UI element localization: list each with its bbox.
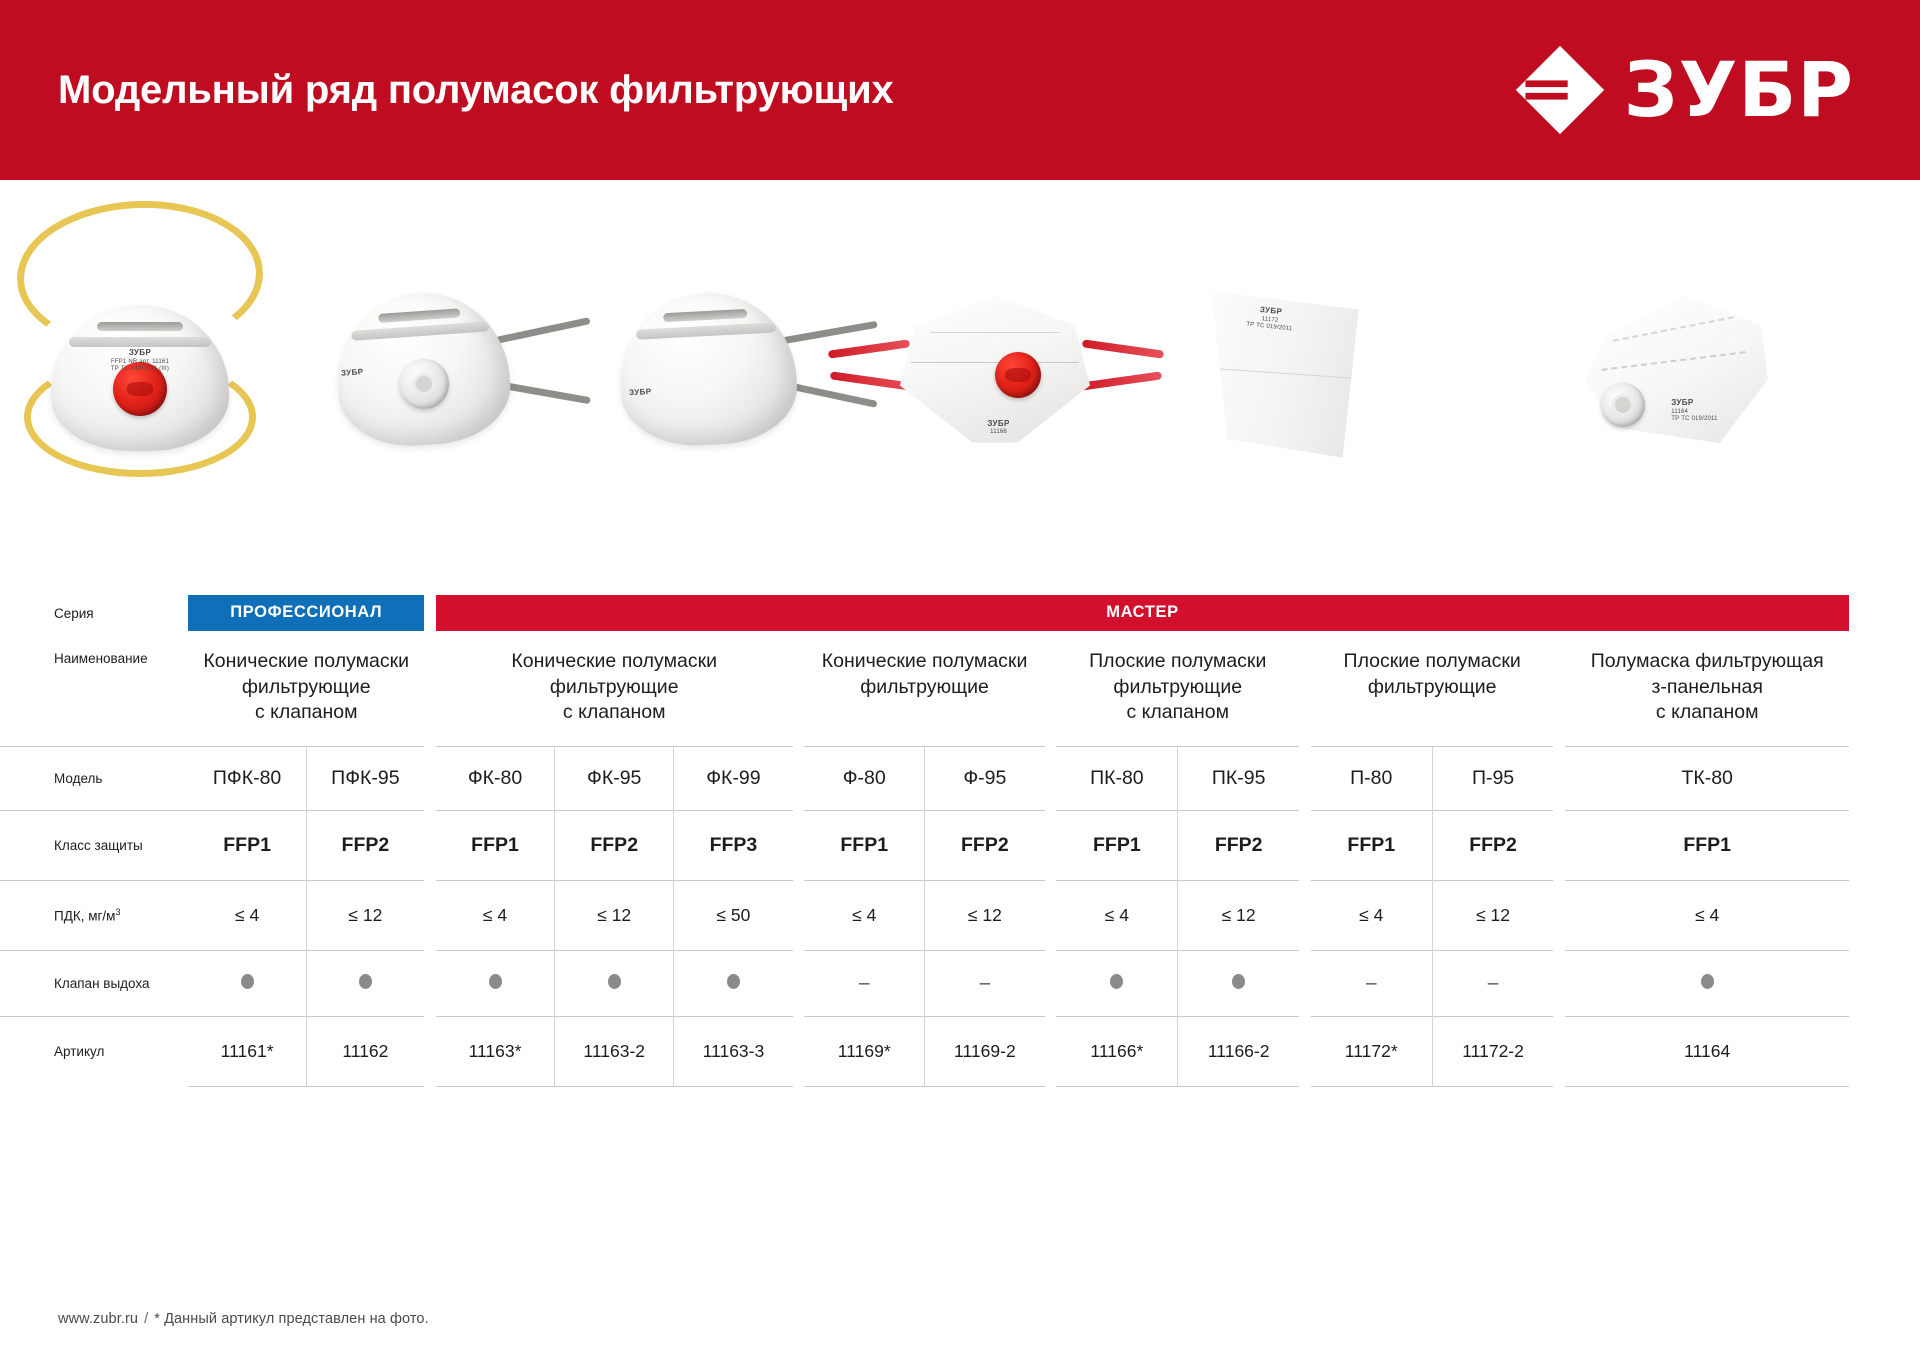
valve-present-dot-icon bbox=[727, 974, 740, 989]
cell-class-11: FFP1 bbox=[1565, 811, 1849, 881]
series-badge-professional: ПРОФЕССИОНАЛ bbox=[188, 595, 424, 631]
name-line-3: с клапаном bbox=[1070, 700, 1285, 726]
page-header: Модельный ряд полумасок фильтрующих ЗУБР bbox=[0, 0, 1920, 180]
valve-absent-dash-icon: – bbox=[980, 973, 991, 994]
cell-model-8: ПК-95 bbox=[1178, 747, 1299, 811]
row-pdk: ПДК, мг/м3 ≤ 4 ≤ 12 ≤ 4 ≤ 12 ≤ 50 ≤ 4 ≤ … bbox=[0, 881, 1920, 951]
cell-pdk-2: ≤ 4 bbox=[436, 881, 555, 951]
name-group-pk: Плоские полумаски фильтрующие с клапаном bbox=[1056, 631, 1299, 747]
mask-print-line1: 11164 bbox=[1671, 409, 1688, 415]
cell-article-2: 11163* bbox=[436, 1017, 555, 1087]
series-group-master: МАСТЕР bbox=[436, 595, 1849, 631]
mask-printed-label: ЗУБР bbox=[340, 367, 363, 379]
cell-model-1: ПФК-95 bbox=[306, 747, 424, 811]
mask-print-brand: ЗУБР bbox=[1671, 398, 1693, 407]
mask-print-brand: ЗУБР bbox=[340, 367, 363, 378]
mask-printed-label: ЗУБР 11172 ТР ТС 019/2011 bbox=[1245, 304, 1294, 334]
cell-valve-9: – bbox=[1311, 951, 1432, 1017]
cell-article-6: 11169-2 bbox=[925, 1017, 1045, 1087]
cell-valve-5: – bbox=[804, 951, 924, 1017]
cell-valve-11 bbox=[1565, 951, 1849, 1017]
product-photo-pk: ЗУБР 11166 bbox=[850, 180, 1140, 595]
cell-model-6: Ф-95 bbox=[925, 747, 1045, 811]
cell-article-3: 11163-2 bbox=[555, 1017, 674, 1087]
cell-article-11: 11164 bbox=[1565, 1017, 1849, 1087]
row-label-name: Наименование bbox=[0, 631, 188, 747]
cell-valve-8 bbox=[1178, 951, 1299, 1017]
product-photo-p: ЗУБР 11172 ТР ТС 019/2011 bbox=[1140, 180, 1430, 595]
exhalation-valve-red bbox=[995, 352, 1041, 398]
cell-model-11: ТК-80 bbox=[1565, 747, 1849, 811]
mask-print-line1: 11172 bbox=[1261, 316, 1278, 324]
cell-valve-2 bbox=[436, 951, 555, 1017]
cell-article-8: 11166-2 bbox=[1178, 1017, 1299, 1087]
row-exhalation-valve: Клапан выдоха – – – – bbox=[0, 951, 1920, 1017]
cell-class-4: FFP3 bbox=[674, 811, 793, 881]
cell-valve-4 bbox=[674, 951, 793, 1017]
cell-article-1: 11162 bbox=[306, 1017, 424, 1087]
name-line-3 bbox=[818, 700, 1030, 726]
cell-valve-6: – bbox=[925, 951, 1045, 1017]
name-line-3: с клапаном bbox=[1579, 700, 1835, 726]
row-name: Наименование Конические полумаски фильтр… bbox=[0, 631, 1920, 747]
cell-model-0: ПФК-80 bbox=[188, 747, 306, 811]
cone-mask-with-grey-valve: ЗУБР bbox=[337, 293, 509, 445]
cone-mask-no-valve: ЗУБР bbox=[620, 293, 796, 445]
cell-pdk-1: ≤ 12 bbox=[306, 881, 424, 951]
row-model: Модель ПФК-80 ПФК-95 ФК-80 ФК-95 ФК-99 Ф… bbox=[0, 747, 1920, 811]
name-group-p: Плоские полумаски фильтрующие bbox=[1311, 631, 1554, 747]
name-line-3 bbox=[1325, 700, 1540, 726]
cell-article-9: 11172* bbox=[1311, 1017, 1432, 1087]
mask-print-brand: ЗУБР bbox=[987, 419, 1009, 428]
cell-class-9: FFP1 bbox=[1311, 811, 1432, 881]
valve-present-dot-icon bbox=[608, 974, 621, 989]
cell-pdk-7: ≤ 4 bbox=[1056, 881, 1177, 951]
row-article: Артикул 11161* 11162 11163* 11163-2 1116… bbox=[0, 1017, 1920, 1087]
fold-line-lower bbox=[911, 362, 1078, 363]
poster-page: Модельный ряд полумасок фильтрующих ЗУБР bbox=[0, 0, 1920, 1357]
three-panel-body bbox=[1582, 290, 1768, 450]
valve-present-dot-icon bbox=[1232, 974, 1245, 989]
footer-note: * Данный артикул представлен на фото. bbox=[154, 1311, 429, 1327]
cell-model-4: ФК-99 bbox=[674, 747, 793, 811]
product-photo-f: ЗУБР bbox=[565, 180, 850, 595]
nose-clip bbox=[377, 308, 460, 323]
cell-pdk-3: ≤ 12 bbox=[555, 881, 674, 951]
name-line-2: фильтрующие bbox=[450, 675, 779, 701]
name-group-f: Конические полумаски фильтрующие bbox=[804, 631, 1044, 747]
cell-model-9: П-80 bbox=[1311, 747, 1432, 811]
specification-table: Серия ПРОФЕССИОНАЛ МАСТЕР Наименование К… bbox=[0, 595, 1920, 1087]
cell-article-10: 11172-2 bbox=[1432, 1017, 1553, 1087]
cell-model-3: ФК-95 bbox=[555, 747, 674, 811]
cell-pdk-11: ≤ 4 bbox=[1565, 881, 1849, 951]
cell-pdk-10: ≤ 12 bbox=[1432, 881, 1553, 951]
mask-printed-label: ЗУБР 11166 bbox=[987, 419, 1009, 437]
cell-pdk-0: ≤ 4 bbox=[188, 881, 306, 951]
mask-print-brand: ЗУБР bbox=[129, 348, 151, 357]
row-series: Серия ПРОФЕССИОНАЛ МАСТЕР bbox=[0, 595, 1920, 631]
name-group-tk: Полумаска фильтрующая з-панельная с клап… bbox=[1565, 631, 1849, 747]
row-label-model: Модель bbox=[0, 747, 188, 811]
mask-print-brand: ЗУБР bbox=[1259, 305, 1282, 316]
valve-present-dot-icon bbox=[489, 974, 502, 989]
flat-fold-mask-no-valve-folded: ЗУБР 11172 ТР ТС 019/2011 bbox=[1205, 280, 1365, 465]
row-label-series: Серия bbox=[0, 595, 188, 631]
valve-absent-dash-icon: – bbox=[859, 973, 870, 994]
row-label-pdk-text: ПДК, мг/м bbox=[54, 909, 115, 924]
three-panel-mask-with-valve: ЗУБР 11164 ТР ТС 019/2011 bbox=[1582, 290, 1768, 450]
valve-present-dot-icon bbox=[241, 974, 254, 989]
cell-class-10: FFP2 bbox=[1432, 811, 1553, 881]
row-label-pdk: ПДК, мг/м3 bbox=[0, 881, 188, 951]
name-line-2: фильтрующие bbox=[202, 675, 410, 701]
name-line-1: Плоские полумаски bbox=[1070, 649, 1285, 675]
nose-clip bbox=[662, 309, 747, 322]
nose-clip bbox=[97, 322, 182, 331]
cell-article-7: 11166* bbox=[1056, 1017, 1177, 1087]
cell-model-10: П-95 bbox=[1432, 747, 1553, 811]
cone-mask-with-red-valve-yellow-straps: ЗУБР FFP1 NR арт. 11161 ТР ТС 019/2011 (… bbox=[51, 305, 229, 451]
name-line-2: з-панельная bbox=[1579, 675, 1835, 701]
row-label-valve: Клапан выдоха bbox=[0, 951, 188, 1017]
cell-class-3: FFP2 bbox=[555, 811, 674, 881]
product-photo-fk: ЗУБР bbox=[280, 180, 565, 595]
name-line-1: Конические полумаски bbox=[818, 649, 1030, 675]
row-label-pdk-superscript: 3 bbox=[115, 907, 120, 917]
cell-class-7: FFP1 bbox=[1056, 811, 1177, 881]
mask-print-line1: 11166 bbox=[990, 429, 1007, 435]
top-seam bbox=[635, 322, 776, 339]
cell-pdk-8: ≤ 12 bbox=[1178, 881, 1299, 951]
mask-print-line2: ТР ТС 019/2011 (III) bbox=[111, 366, 169, 372]
valve-present-dot-icon bbox=[1110, 974, 1123, 989]
name-group-pfk: Конические полумаски фильтрующие с клапа… bbox=[188, 631, 424, 747]
name-line-3: с клапаном bbox=[202, 700, 410, 726]
name-line-2: фильтрующие bbox=[1325, 675, 1540, 701]
crease-line bbox=[1215, 368, 1356, 379]
page-title: Модельный ряд полумасок фильтрующих bbox=[58, 68, 894, 113]
cell-class-1: FFP2 bbox=[306, 811, 424, 881]
stitch-line-upper bbox=[1613, 316, 1734, 341]
product-photo-pfk: ЗУБР FFP1 NR арт. 11161 ТР ТС 019/2011 (… bbox=[0, 180, 280, 595]
mask-cup-body: ЗУБР bbox=[616, 288, 800, 449]
cell-valve-0 bbox=[188, 951, 306, 1017]
name-line-1: Конические полумаски bbox=[450, 649, 779, 675]
row-bottom-rule bbox=[0, 1087, 1920, 1088]
fold-line-upper bbox=[930, 332, 1059, 333]
cell-pdk-9: ≤ 4 bbox=[1311, 881, 1432, 951]
series-group-professional: ПРОФЕССИОНАЛ bbox=[188, 595, 424, 631]
cell-model-2: ФК-80 bbox=[436, 747, 555, 811]
mask-print-line2: ТР ТС 019/2011 bbox=[1671, 416, 1717, 422]
name-line-2: фильтрующие bbox=[818, 675, 1030, 701]
cell-class-8: FFP2 bbox=[1178, 811, 1299, 881]
footer-separator: / bbox=[138, 1311, 154, 1327]
name-group-fk: Конические полумаски фильтрующие с клапа… bbox=[436, 631, 793, 747]
cell-pdk-5: ≤ 4 bbox=[804, 881, 924, 951]
cell-article-0: 11161* bbox=[188, 1017, 306, 1087]
cell-article-4: 11163-3 bbox=[674, 1017, 793, 1087]
mask-print-line1: FFP1 NR арт. 11161 bbox=[111, 359, 169, 365]
cell-valve-1 bbox=[306, 951, 424, 1017]
stitch-line-lower bbox=[1601, 351, 1745, 371]
footer-website-link[interactable]: www.zubr.ru bbox=[58, 1311, 138, 1327]
name-line-1: Полумаска фильтрующая bbox=[1579, 649, 1835, 675]
product-photo-tk: ЗУБР 11164 ТР ТС 019/2011 bbox=[1430, 180, 1920, 595]
row-protection-class: Класс защиты FFP1 FFP2 FFP1 FFP2 FFP3 FF… bbox=[0, 811, 1920, 881]
cell-article-5: 11169* bbox=[804, 1017, 924, 1087]
cell-pdk-6: ≤ 12 bbox=[925, 881, 1045, 951]
name-line-1: Плоские полумаски bbox=[1325, 649, 1540, 675]
name-line-3: с клапаном bbox=[450, 700, 779, 726]
zubr-diamond-logo-icon bbox=[1512, 42, 1608, 138]
cell-class-5: FFP1 bbox=[804, 811, 924, 881]
cell-valve-3 bbox=[555, 951, 674, 1017]
name-line-1: Конические полумаски bbox=[202, 649, 410, 675]
row-label-protection-class: Класс защиты bbox=[0, 811, 188, 881]
valve-absent-dash-icon: – bbox=[1488, 973, 1499, 994]
cell-pdk-4: ≤ 50 bbox=[674, 881, 793, 951]
valve-present-dot-icon bbox=[1701, 974, 1714, 989]
brand-logo: ЗУБР bbox=[1512, 42, 1854, 138]
valve-absent-dash-icon: – bbox=[1366, 973, 1377, 994]
page-footer: www.zubr.ru/* Данный артикул представлен… bbox=[58, 1311, 429, 1327]
exhalation-valve-grey bbox=[1601, 383, 1645, 427]
mask-print-brand: ЗУБР bbox=[628, 387, 651, 397]
mask-printed-label: ЗУБР 11164 ТР ТС 019/2011 bbox=[1671, 398, 1717, 424]
cell-valve-7 bbox=[1056, 951, 1177, 1017]
cell-model-5: Ф-80 bbox=[804, 747, 924, 811]
product-photo-strip: ЗУБР FFP1 NR арт. 11161 ТР ТС 019/2011 (… bbox=[0, 180, 1920, 595]
mask-cup-body: ЗУБР bbox=[331, 287, 513, 451]
valve-present-dot-icon bbox=[359, 974, 372, 989]
cell-valve-10: – bbox=[1432, 951, 1553, 1017]
brand-wordmark: ЗУБР bbox=[1624, 52, 1854, 128]
exhalation-valve-grey bbox=[397, 357, 450, 410]
flat-fold-mask-with-red-valve-red-straps: ЗУБР 11166 bbox=[900, 293, 1090, 443]
row-label-article: Артикул bbox=[0, 1017, 188, 1087]
cell-model-7: ПК-80 bbox=[1056, 747, 1177, 811]
series-badge-master: МАСТЕР bbox=[436, 595, 1849, 631]
mask-printed-label: ЗУБР bbox=[628, 387, 651, 399]
cell-class-6: FFP2 bbox=[925, 811, 1045, 881]
top-seam bbox=[69, 337, 211, 347]
top-seam bbox=[351, 321, 489, 341]
mask-printed-label: ЗУБР FFP1 NR арт. 11161 ТР ТС 019/2011 (… bbox=[51, 348, 229, 374]
cell-class-2: FFP1 bbox=[436, 811, 555, 881]
cell-class-0: FFP1 bbox=[188, 811, 306, 881]
name-line-2: фильтрующие bbox=[1070, 675, 1285, 701]
